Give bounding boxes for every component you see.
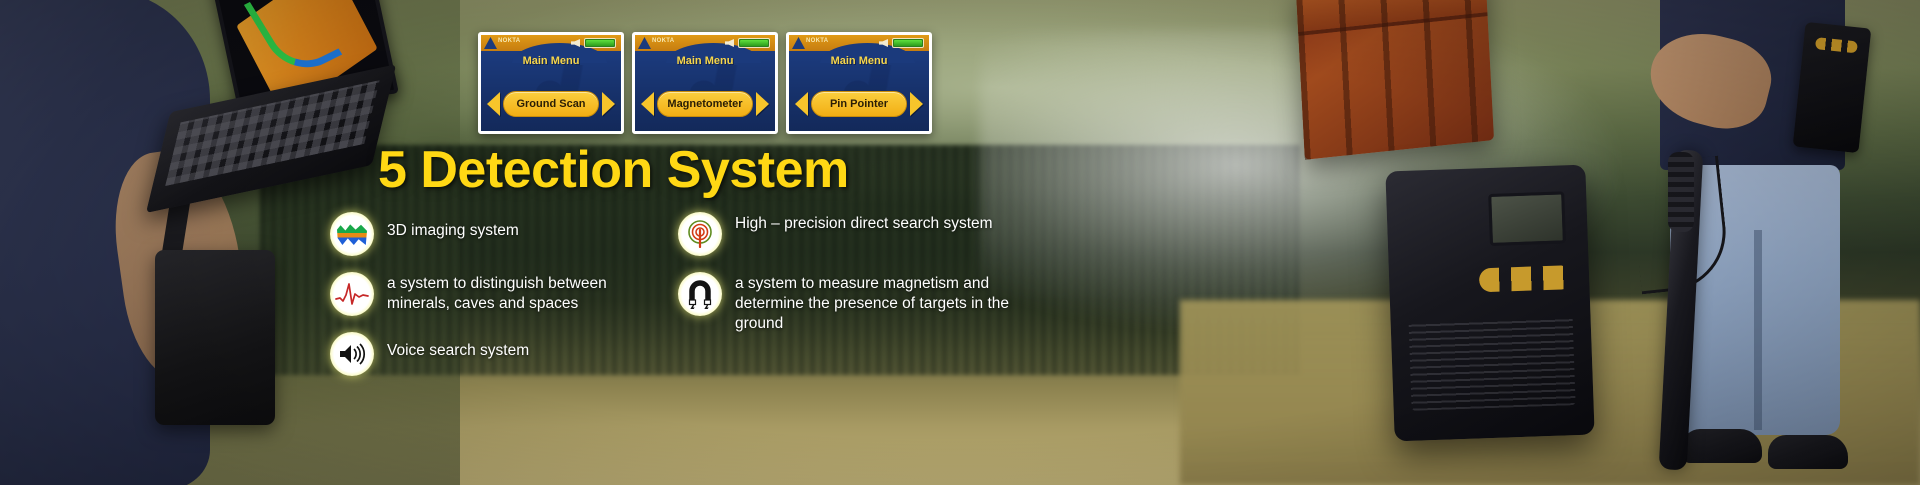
chevron-left-icon[interactable] bbox=[795, 92, 808, 116]
feature-item: Voice search system bbox=[330, 332, 660, 376]
brand-name: NOKTA bbox=[652, 38, 674, 44]
feature-item: High – precision direct search system bbox=[678, 212, 1018, 256]
promo-banner: NOKTA Main Menu Ground Scan NOKTA Main M… bbox=[0, 0, 1920, 485]
waveform-pulse-glyph bbox=[335, 282, 369, 306]
device-menu-card-magnetometer[interactable]: NOKTA Main Menu Magnetometer bbox=[632, 32, 778, 134]
device-mode-label[interactable]: Magnetometer bbox=[657, 91, 753, 117]
battery-full-icon bbox=[892, 38, 924, 48]
device-menu-gallery: NOKTA Main Menu Ground Scan NOKTA Main M… bbox=[478, 32, 932, 134]
waveform-pulse-icon bbox=[330, 272, 374, 316]
device-menu-title: Main Menu bbox=[789, 55, 929, 67]
feature-label: High – precision direct search system bbox=[735, 212, 993, 234]
battery-full-icon bbox=[584, 38, 616, 48]
feature-column-right: High – precision direct search system bbox=[678, 212, 1018, 349]
horseshoe-magnet-icon bbox=[678, 272, 722, 316]
feature-label: Voice search system bbox=[387, 332, 529, 361]
device-mode-label[interactable]: Ground Scan bbox=[503, 91, 599, 117]
feature-column-left: 3D imaging system a system to distinguis… bbox=[330, 212, 660, 392]
device-menu-card-pin-pointer[interactable]: NOKTA Main Menu Pin Pointer bbox=[786, 32, 932, 134]
chevron-left-icon[interactable] bbox=[487, 92, 500, 116]
feature-label: a system to distinguish between minerals… bbox=[387, 272, 660, 314]
device-mode-selector[interactable]: Pin Pointer bbox=[795, 91, 923, 117]
device-menu-card-ground-scan[interactable]: NOKTA Main Menu Ground Scan bbox=[478, 32, 624, 134]
speaker-sound-icon bbox=[330, 332, 374, 376]
page-title: 5 Detection System bbox=[378, 140, 849, 200]
chevron-right-icon[interactable] bbox=[602, 92, 615, 116]
device-mode-label[interactable]: Pin Pointer bbox=[811, 91, 907, 117]
feature-item: 3D imaging system bbox=[330, 212, 660, 256]
battery-full-icon bbox=[738, 38, 770, 48]
chevron-right-icon[interactable] bbox=[910, 92, 923, 116]
device-mode-selector[interactable]: Ground Scan bbox=[487, 91, 615, 117]
feature-item: a system to measure magnetism and determ… bbox=[678, 272, 1018, 333]
chevron-left-icon[interactable] bbox=[641, 92, 654, 116]
feature-label: a system to measure magnetism and determ… bbox=[735, 272, 1018, 333]
signal-target-glyph bbox=[686, 220, 714, 248]
terrain-3d-glyph bbox=[337, 223, 367, 245]
device-menu-title: Main Menu bbox=[635, 55, 775, 67]
brand-name: NOKTA bbox=[806, 38, 828, 44]
device-menu-title: Main Menu bbox=[481, 55, 621, 67]
signal-target-icon bbox=[678, 212, 722, 256]
device-mode-selector[interactable]: Magnetometer bbox=[641, 91, 769, 117]
brand-name: NOKTA bbox=[498, 38, 520, 44]
feature-label: 3D imaging system bbox=[387, 212, 519, 241]
horseshoe-magnet-glyph bbox=[688, 279, 712, 309]
terrain-3d-icon bbox=[330, 212, 374, 256]
speaker-sound-glyph bbox=[338, 342, 366, 366]
chevron-right-icon[interactable] bbox=[756, 92, 769, 116]
feature-item: a system to distinguish between minerals… bbox=[330, 272, 660, 316]
